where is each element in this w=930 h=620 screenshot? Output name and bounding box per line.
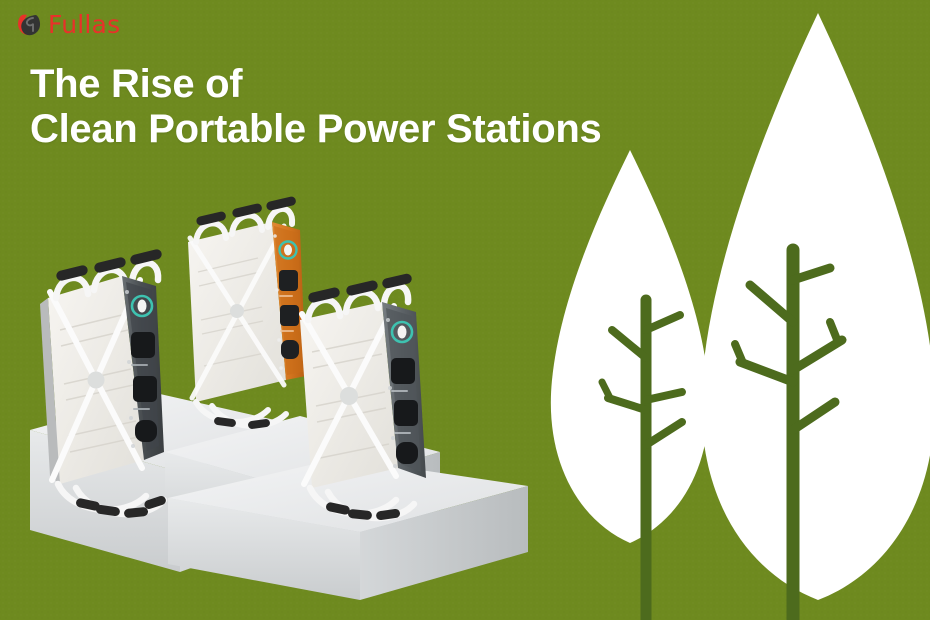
power-station-white-orange	[188, 196, 306, 430]
page-title: The Rise of Clean Portable Power Station…	[30, 62, 601, 152]
headline-line-1: The Rise of	[30, 62, 601, 107]
large-leaf-shape	[701, 13, 930, 600]
leaf-drop-icon	[14, 9, 44, 39]
ac-outlets	[279, 270, 299, 359]
brand-wordmark: Fullas	[48, 12, 120, 37]
product-scene	[0, 180, 560, 620]
brand-logo[interactable]: Fullas	[14, 9, 120, 39]
headline-line-2: Clean Portable Power Stations	[30, 107, 601, 152]
hero-banner: Fullas The Rise of Clean Portable Power …	[0, 0, 930, 620]
